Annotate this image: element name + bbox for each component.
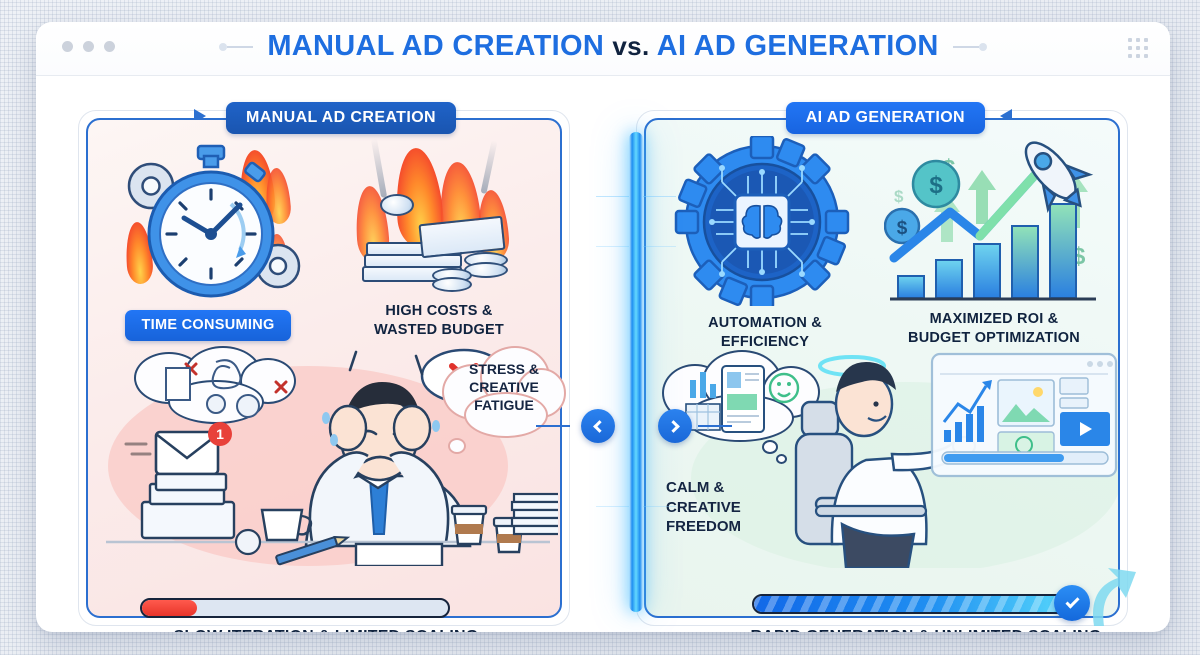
grid-dots-icon[interactable] [1128,38,1148,58]
right-section-badge: AI AD GENERATION [786,102,985,134]
title-bar: MANUAL AD CREATION vs. AI AD GENERATION [36,22,1170,76]
stopwatch-fire-icon [118,142,313,302]
left-panel-manual: TIME CONSUMING [86,118,562,618]
prev-button[interactable] [581,409,615,443]
right-item1-caption: AUTOMATION & EFFICIENCY [656,314,874,351]
check-circle-icon [1054,585,1090,621]
slow-progress-fill [142,600,197,616]
time-consuming-badge: TIME CONSUMING [125,310,290,341]
comparison-board: TIME CONSUMING [36,76,1170,632]
calm-line2: CREATIVE [666,499,741,516]
title-part-ai: AI AD GENERATION [657,30,939,62]
app-window: MANUAL AD CREATION vs. AI AD GENERATION [36,22,1170,632]
next-button[interactable] [658,409,692,443]
left-item1-caption: TIME CONSUMING [88,310,328,341]
rapid-progress-fill [754,596,1068,612]
svg-text:$: $ [897,218,908,239]
right-bottom-caption: RAPID GENERATION & UNLIMITED SCALING [696,628,1156,632]
svg-text:$: $ [894,187,904,206]
svg-text:$: $ [929,172,943,199]
divider-tick-left [536,425,570,427]
roi-label-line2: BUDGET OPTIMIZATION [908,330,1080,346]
stress-line1: STRESS & [469,361,539,377]
right-panel-ai: AUTOMATION & EFFICIENCY $ [644,118,1120,618]
high-costs-label-line2: WASTED BUDGET [374,322,504,338]
left-section-badge: MANUAL AD CREATION [226,102,456,134]
rapid-progress-bar[interactable] [752,594,1070,614]
title-part-manual: MANUAL AD CREATION [267,30,604,62]
title-text: MANUAL AD CREATION vs. AI AD GENERATION [267,30,938,63]
stress-line2: CREATIVE [469,379,539,395]
high-costs-label-line1: HIGH COSTS & [385,303,492,319]
stress-line3: FATIGUE [474,397,534,413]
growth-chart-rocket-icon: $ $ $ $ $ [884,136,1104,306]
roi-label-line1: MAXIMIZED ROI & [930,311,1059,327]
title-rule-left [227,46,253,48]
automation-label-line1: AUTOMATION & [708,315,822,331]
stress-bubble-text: STRESS & CREATIVE FATIGUE [442,360,566,415]
left-item2-caption: HIGH COSTS & WASTED BUDGET [324,302,554,339]
title-vs: vs. [612,31,649,61]
page-title: MANUAL AD CREATION vs. AI AD GENERATION [36,30,1170,63]
calm-bubble-text: CALM & CREATIVE FREEDOM [666,478,816,537]
calm-line3: FREEDOM [666,518,741,535]
calm-line1: CALM & [666,479,724,496]
center-divider [629,132,643,612]
chevron-left-icon [593,420,606,433]
divider-tick-right [698,425,732,427]
burning-money-icon [336,138,536,303]
slow-progress-bar[interactable] [140,598,450,618]
right-item2-caption: MAXIMIZED ROI & BUDGET OPTIMIZATION [874,310,1114,347]
chevron-right-icon [667,420,680,433]
ai-gear-brain-icon [672,136,852,306]
title-rule-right [953,46,979,48]
left-bottom-caption: SLOW ITERATION & LIMITED SCALING [96,628,556,632]
